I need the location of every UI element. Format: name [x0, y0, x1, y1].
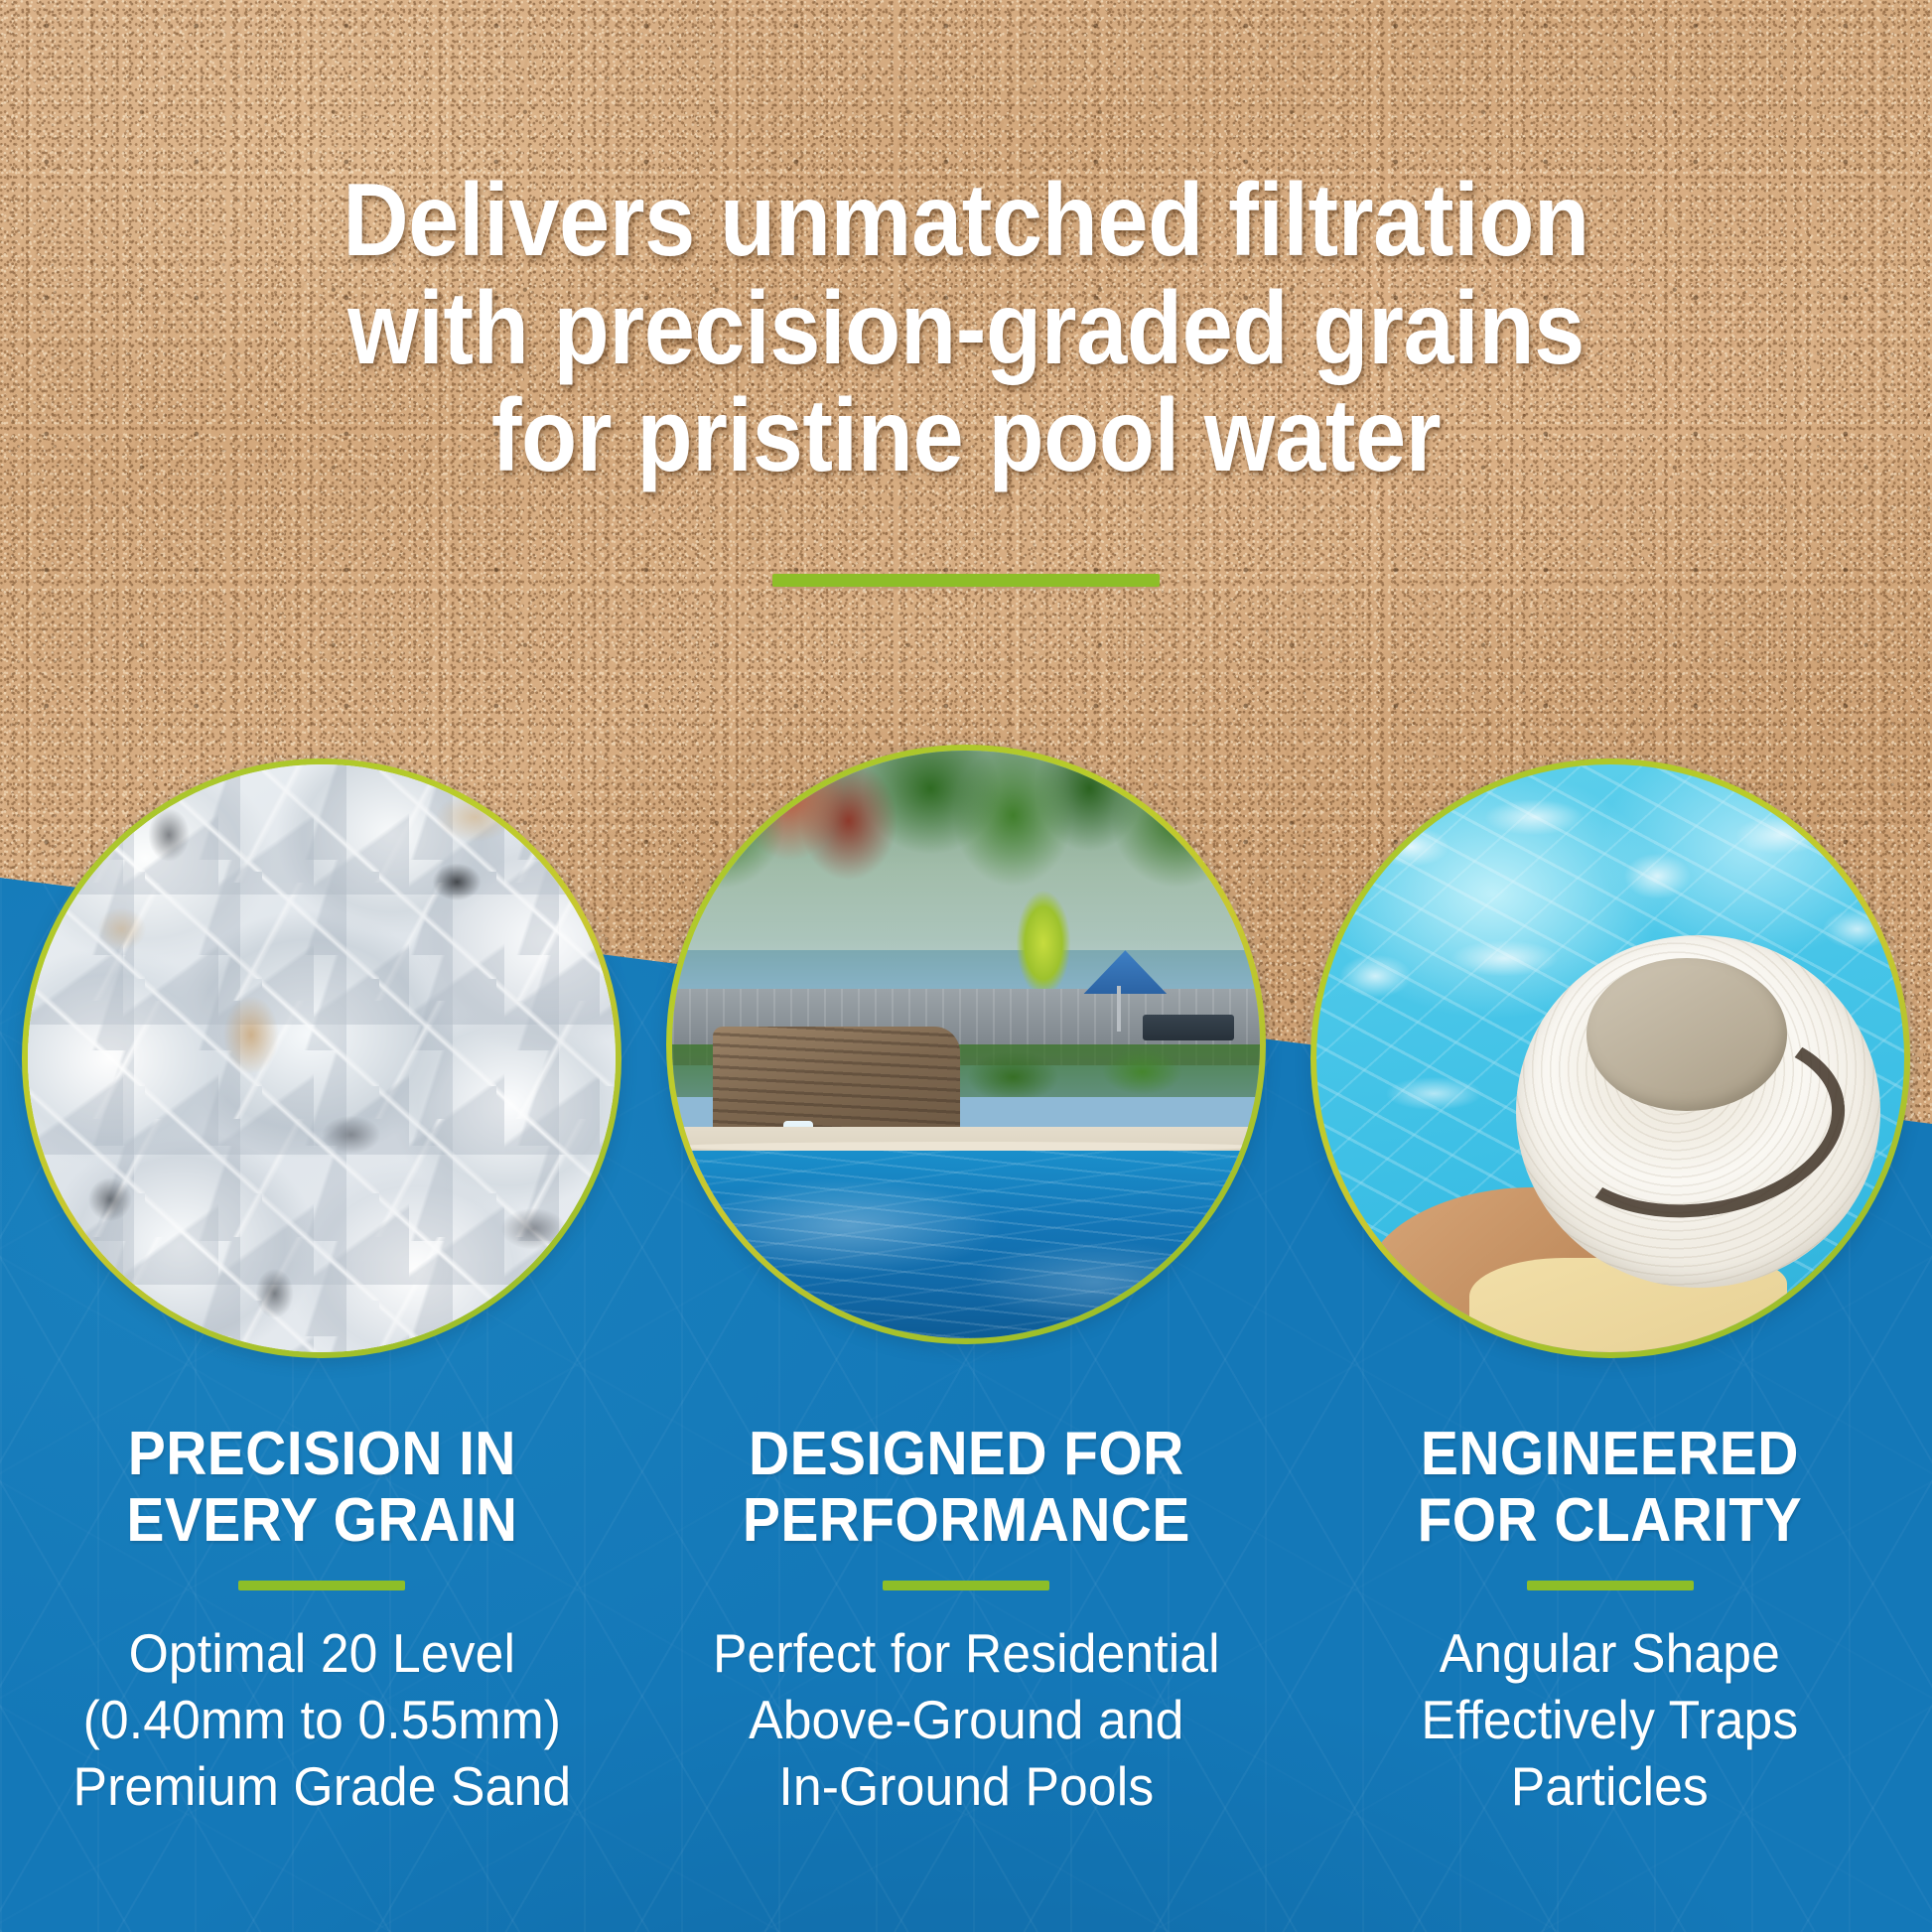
- feature-body-line-1: Perfect for Residential: [676, 1620, 1255, 1687]
- feature-title-line-2: EVERY GRAIN: [39, 1488, 606, 1555]
- feature-body-line-1: Optimal 20 Level: [33, 1620, 612, 1687]
- backyard-pool-photo-base: [672, 751, 1260, 1338]
- circle-residential-backyard-pool: [666, 745, 1266, 1344]
- circle-white-quartz-sand-crystals: [22, 759, 621, 1358]
- tree-line: [672, 751, 1260, 1021]
- lounge-chairs: [1143, 1015, 1234, 1040]
- feature-title-line-1: DESIGNED FOR: [682, 1422, 1249, 1488]
- feature-title-line-1: ENGINEERED: [1326, 1422, 1893, 1488]
- feature-title-performance: DESIGNED FOR PERFORMANCE: [682, 1422, 1249, 1555]
- patio-umbrella-pole: [1117, 986, 1121, 1032]
- feature-body-line-3: Premium Grade Sand: [33, 1753, 612, 1820]
- feature-column-precision: PRECISION IN EVERY GRAIN Optimal 20 Leve…: [0, 1422, 644, 1820]
- feature-body-line-2: Effectively Traps: [1320, 1687, 1899, 1753]
- feature-column-clarity: ENGINEERED FOR CLARITY Angular Shape Eff…: [1288, 1422, 1932, 1820]
- circle-1-photo: [28, 764, 616, 1352]
- feature-title-line-1: PRECISION IN: [39, 1422, 606, 1488]
- feature-body-line-3: In-Ground Pools: [676, 1753, 1255, 1820]
- feature-column-performance: DESIGNED FOR PERFORMANCE Perfect for Res…: [644, 1422, 1289, 1820]
- feature-green-divider-clarity: [1527, 1581, 1694, 1590]
- feature-body-line-2: Above-Ground and: [676, 1687, 1255, 1753]
- circle-3-photo: [1316, 764, 1904, 1352]
- feature-body-line-2: (0.40mm to 0.55mm): [33, 1687, 612, 1753]
- feature-green-divider-performance: [883, 1581, 1049, 1590]
- circle-2-photo: [672, 751, 1260, 1338]
- feature-title-line-2: FOR CLARITY: [1326, 1488, 1893, 1555]
- pool-water-ripples: [672, 1151, 1260, 1338]
- quartz-shadow-gaps: [28, 764, 616, 1352]
- feature-body-line-1: Angular Shape: [1320, 1620, 1899, 1687]
- feature-body-performance: Perfect for Residential Above-Ground and…: [676, 1620, 1255, 1820]
- feature-green-divider-precision: [238, 1581, 405, 1590]
- feature-title-line-2: PERFORMANCE: [682, 1488, 1249, 1555]
- feature-title-clarity: ENGINEERED FOR CLARITY: [1326, 1422, 1893, 1555]
- feature-body-precision: Optimal 20 Level (0.40mm to 0.55mm) Prem…: [33, 1620, 612, 1820]
- feature-body-line-3: Particles: [1320, 1753, 1899, 1820]
- circle-person-in-sunhat-in-pool: [1311, 759, 1910, 1358]
- feature-columns: PRECISION IN EVERY GRAIN Optimal 20 Leve…: [0, 1422, 1932, 1820]
- feature-body-clarity: Angular Shape Effectively Traps Particle…: [1320, 1620, 1899, 1820]
- feature-title-precision: PRECISION IN EVERY GRAIN: [39, 1422, 606, 1555]
- infographic-canvas: Delivers unmatched filtration with preci…: [0, 0, 1932, 1932]
